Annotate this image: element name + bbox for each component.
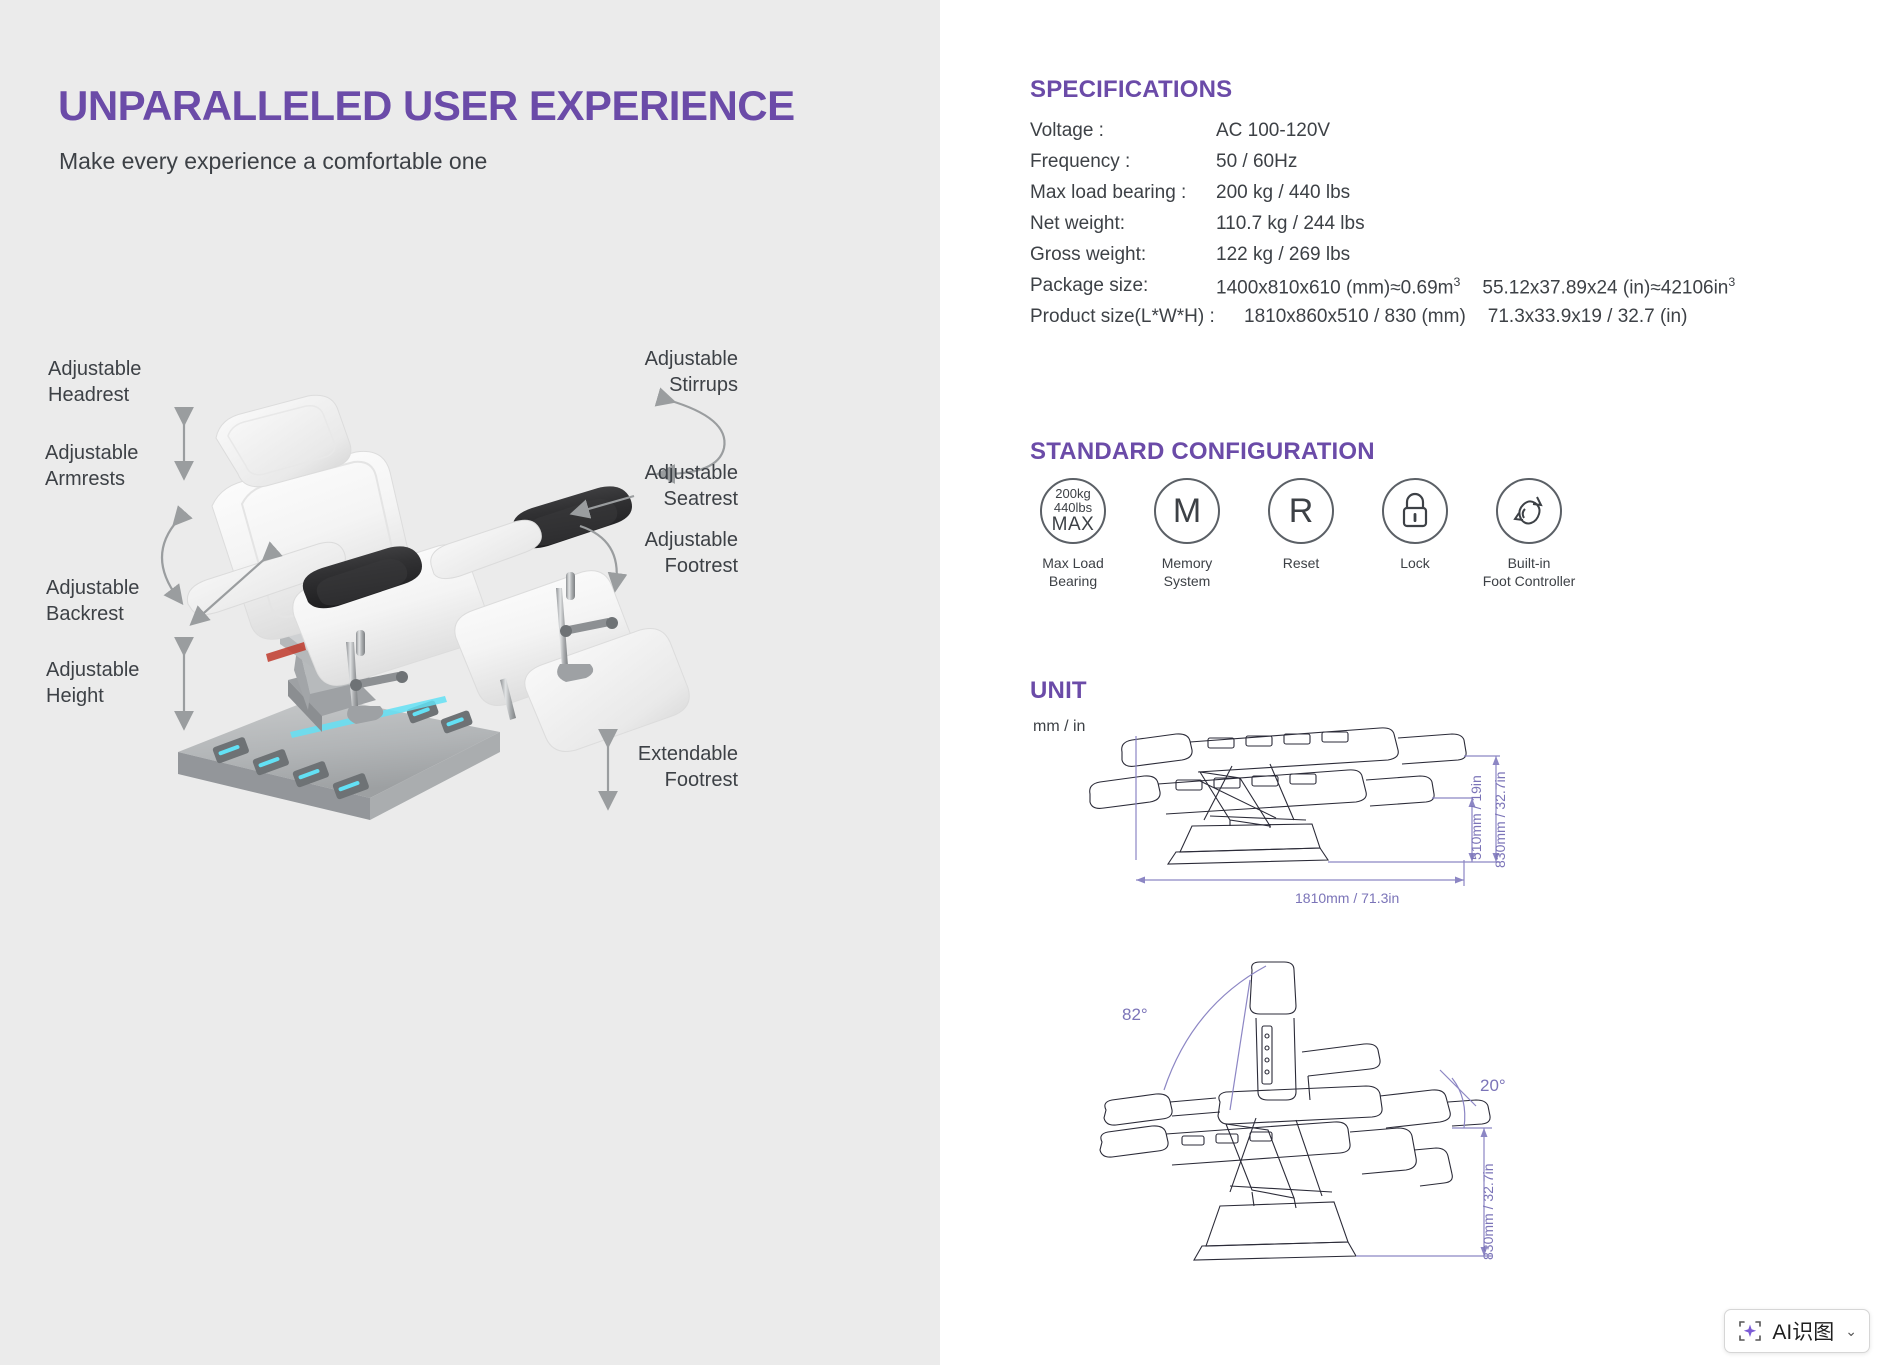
- config-item-max-load-bearing: 200kg 440lbs MAX Max Load Bearing: [1030, 478, 1116, 590]
- spec-row-product-size: Product size(L*W*H) : 1810x860x510 / 830…: [1030, 306, 1850, 337]
- ai-recognize-button[interactable]: AI识图 ⌄: [1724, 1309, 1870, 1353]
- callout-line-1: Adjustable: [46, 657, 139, 683]
- spec-label: Max load bearing :: [1030, 182, 1186, 204]
- max-load-kg: 200kg: [1055, 487, 1090, 501]
- callout-line-1: Adjustable: [48, 356, 141, 382]
- config-label-line-2: Foot Controller: [1483, 572, 1576, 590]
- callout-line-2: Backrest: [46, 601, 139, 627]
- config-item-foot-controller: Built-in Foot Controller: [1486, 478, 1572, 590]
- callout-line-2: Footrest: [568, 553, 738, 579]
- foot-controller-icon: [1496, 478, 1562, 544]
- memory-icon: M: [1154, 478, 1220, 544]
- technical-drawing-side-view: 1810mm / 71.3in 510mm / 19in 830mm / 32.…: [1080, 720, 1840, 940]
- page-title: UNPARALLELED USER EXPERIENCE: [58, 82, 795, 130]
- technical-drawing-angle-view: 82° 20° 830mm / 32.7in: [1080, 960, 1840, 1310]
- callout-adjustable-seatrest: Adjustable Seatrest: [568, 460, 738, 512]
- callout-adjustable-footrest: Adjustable Footrest: [568, 527, 738, 579]
- config-item-lock: Lock: [1372, 478, 1458, 590]
- reset-letter: R: [1289, 494, 1314, 528]
- unit-subtitle: mm / in: [1033, 718, 1085, 736]
- spec-row-package-size: Package size: 1400x810x610 (mm)≈0.69m355…: [1030, 275, 1850, 306]
- left-panel-surface: UNPARALLELED USER EXPERIENCE Make every …: [0, 0, 940, 1345]
- ai-sparkle-icon: [1737, 1318, 1763, 1344]
- callout-adjustable-backrest: Adjustable Backrest: [46, 575, 139, 627]
- product-spec-page: UNPARALLELED USER EXPERIENCE Make every …: [0, 0, 1883, 1365]
- package-size-metric-sup: 3: [1454, 275, 1461, 289]
- config-item-reset: R Reset: [1258, 478, 1344, 590]
- standard-configuration-heading: STANDARD CONFIGURATION: [1030, 438, 1375, 466]
- specifications-heading: SPECIFICATIONS: [1030, 76, 1232, 104]
- left-panel: UNPARALLELED USER EXPERIENCE Make every …: [0, 0, 940, 1365]
- spec-row-max-load-bearing: Max load bearing : 200 kg / 440 lbs: [1030, 182, 1850, 213]
- standard-configuration-icons: 200kg 440lbs MAX Max Load Bearing M Memo…: [1030, 478, 1572, 590]
- spec-value: 1810x860x510 / 830 (mm)71.3x33.9x19 / 32…: [1244, 306, 1687, 328]
- drawing-2-svg: [1080, 960, 1840, 1310]
- spec-row-voltage: Voltage : AC 100-120V: [1030, 120, 1850, 151]
- config-label: Lock: [1400, 554, 1430, 572]
- product-size-imperial: 71.3x33.9x19 / 32.7 (in): [1488, 306, 1688, 327]
- config-item-memory-system: M Memory System: [1144, 478, 1230, 590]
- spec-label: Package size:: [1030, 275, 1148, 297]
- callout-line-1: Adjustable: [568, 346, 738, 372]
- spec-row-net-weight: Net weight: 110.7 kg / 244 lbs: [1030, 213, 1850, 244]
- spec-value: 1400x810x610 (mm)≈0.69m355.12x37.89x24 (…: [1216, 275, 1735, 299]
- dim-height-830-2: 830mm / 32.7in: [1480, 1164, 1496, 1261]
- product-size-metric: 1810x860x510 / 830 (mm): [1244, 306, 1466, 327]
- callout-line-2: Footrest: [558, 767, 738, 793]
- package-size-imperial-sup: 3: [1728, 275, 1735, 289]
- spec-value: 200 kg / 440 lbs: [1216, 182, 1350, 204]
- reset-icon: R: [1268, 478, 1334, 544]
- callout-line-2: Headrest: [48, 382, 141, 408]
- lock-glyph: [1395, 489, 1435, 533]
- angle-label-82: 82°: [1122, 1005, 1148, 1025]
- chevron-down-icon[interactable]: ⌄: [1845, 1323, 1857, 1340]
- spec-row-frequency: Frequency : 50 / 60Hz: [1030, 151, 1850, 182]
- config-label-line-1: Max Load: [1042, 554, 1103, 572]
- angle-label-20: 20°: [1480, 1076, 1506, 1096]
- memory-letter: M: [1173, 494, 1201, 528]
- config-label-line-1: Lock: [1400, 554, 1430, 572]
- spec-row-gross-weight: Gross weight: 122 kg / 269 lbs: [1030, 244, 1850, 275]
- dim-height-830: 830mm / 32.7in: [1492, 772, 1508, 869]
- ai-button-label: AI识图: [1772, 1316, 1834, 1346]
- callout-line-1: Adjustable: [45, 440, 138, 466]
- config-label: Max Load Bearing: [1042, 554, 1103, 590]
- callout-adjustable-headrest: Adjustable Headrest: [48, 356, 141, 408]
- config-label-line-1: Built-in: [1483, 554, 1576, 572]
- config-label-line-1: Memory: [1162, 554, 1213, 572]
- callout-line-2: Seatrest: [568, 486, 738, 512]
- max-load-icon: 200kg 440lbs MAX: [1040, 478, 1106, 544]
- spec-label: Product size(L*W*H) :: [1030, 306, 1215, 328]
- max-load-max: MAX: [1052, 515, 1095, 535]
- max-load-lbs: 440lbs: [1054, 501, 1092, 515]
- config-label-line-2: Bearing: [1042, 572, 1103, 590]
- package-size-metric: 1400x810x610 (mm)≈0.69m: [1216, 277, 1454, 298]
- foot-glyph: [1507, 489, 1551, 533]
- callout-line-2: Height: [46, 683, 139, 709]
- lock-icon: [1382, 478, 1448, 544]
- config-label-line-1: Reset: [1283, 554, 1320, 572]
- right-panel: SPECIFICATIONS Voltage : AC 100-120V Fre…: [940, 0, 1883, 1365]
- config-label: Built-in Foot Controller: [1483, 554, 1576, 590]
- spec-label: Voltage :: [1030, 120, 1104, 142]
- package-size-imperial: 55.12x37.89x24 (in)≈42106in: [1482, 277, 1728, 298]
- spec-value: 110.7 kg / 244 lbs: [1216, 213, 1365, 235]
- drawing-1-svg: [1080, 720, 1840, 940]
- spec-value: 50 / 60Hz: [1216, 151, 1297, 173]
- callout-adjustable-height: Adjustable Height: [46, 657, 139, 709]
- config-label: Memory System: [1162, 554, 1213, 590]
- callout-line-2: Armrests: [45, 466, 138, 492]
- config-label-line-2: System: [1162, 572, 1213, 590]
- spec-label: Frequency :: [1030, 151, 1130, 173]
- dim-height-510: 510mm / 19in: [1468, 775, 1484, 860]
- callout-line-1: Adjustable: [46, 575, 139, 601]
- callout-line-1: Adjustable: [568, 460, 738, 486]
- callout-line-2: Stirrups: [568, 372, 738, 398]
- callout-adjustable-armrests: Adjustable Armrests: [45, 440, 138, 492]
- dim-width-1810: 1810mm / 71.3in: [1295, 890, 1399, 906]
- callout-adjustable-stirrups: Adjustable Stirrups: [568, 346, 738, 398]
- spec-label: Net weight:: [1030, 213, 1125, 235]
- callout-line-1: Adjustable: [568, 527, 738, 553]
- callout-extendable-footrest: Extendable Footrest: [558, 741, 738, 793]
- config-label: Reset: [1283, 554, 1320, 572]
- page-subtitle: Make every experience a comfortable one: [59, 148, 487, 175]
- spec-value: 122 kg / 269 lbs: [1216, 244, 1350, 266]
- spec-label: Gross weight:: [1030, 244, 1146, 266]
- callout-line-1: Extendable: [558, 741, 738, 767]
- spec-value: AC 100-120V: [1216, 120, 1330, 142]
- specifications-list: Voltage : AC 100-120V Frequency : 50 / 6…: [1030, 120, 1850, 337]
- unit-heading: UNIT: [1030, 677, 1087, 705]
